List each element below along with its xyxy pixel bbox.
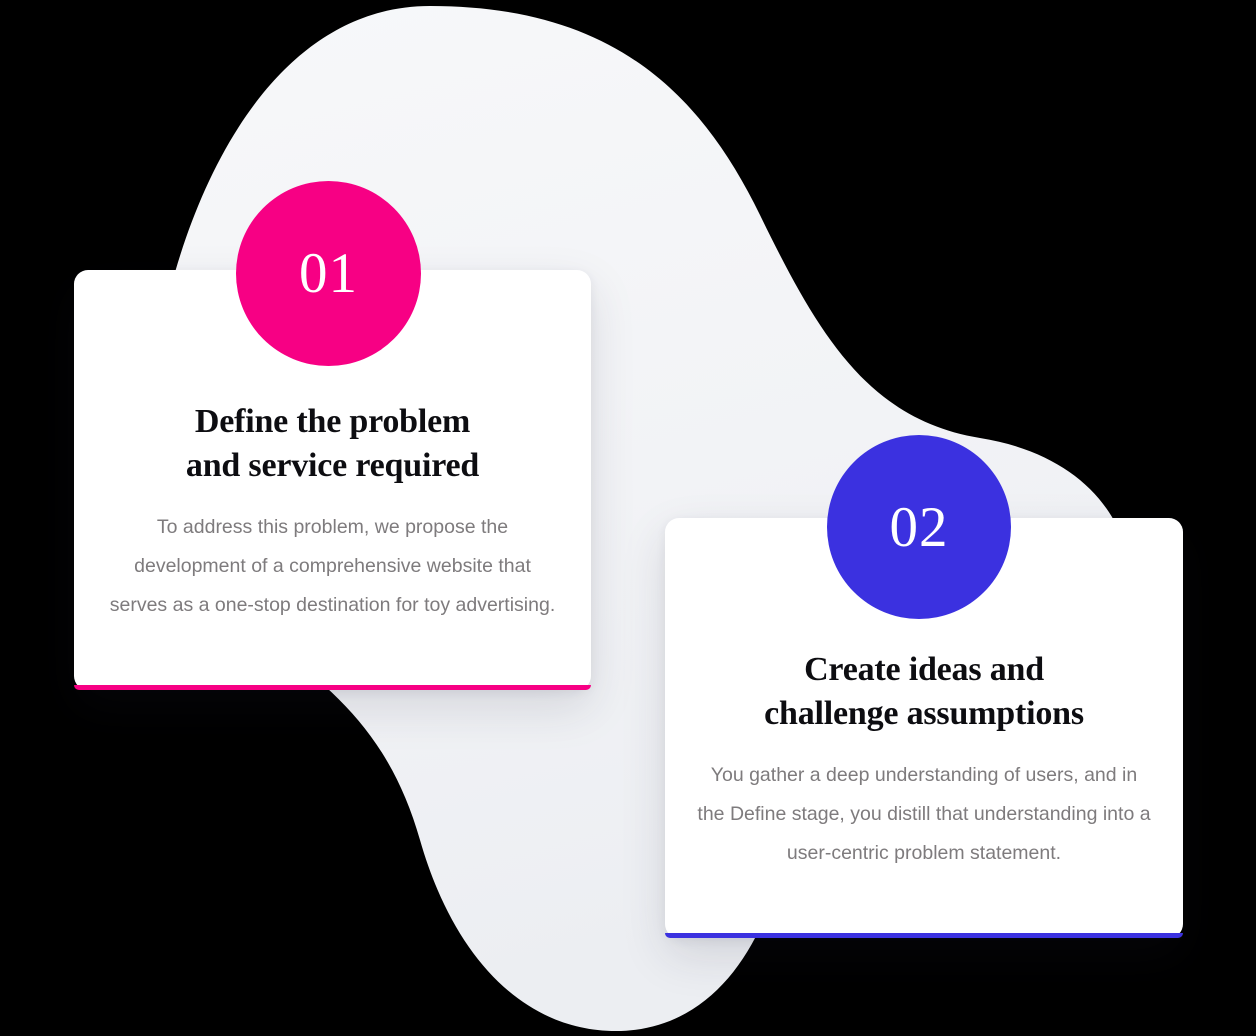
step-card-02-accent-rule bbox=[665, 933, 1183, 938]
step-number-badge-01: 01 bbox=[236, 181, 421, 366]
step-number-badge-02: 02 bbox=[827, 435, 1011, 619]
step-card-01-description: To address this problem, we propose the … bbox=[100, 508, 565, 625]
process-steps-graphic: Define the problem and service required … bbox=[0, 0, 1256, 1036]
step-card-02-title: Create ideas and challenge assumptions bbox=[691, 648, 1157, 736]
step-card-01-title: Define the problem and service required bbox=[100, 400, 565, 488]
step-number-badge-02-label: 02 bbox=[890, 499, 949, 556]
step-card-01-accent-rule bbox=[74, 685, 591, 690]
step-card-02-description: You gather a deep understanding of users… bbox=[691, 756, 1157, 873]
step-number-badge-01-label: 01 bbox=[299, 245, 358, 302]
